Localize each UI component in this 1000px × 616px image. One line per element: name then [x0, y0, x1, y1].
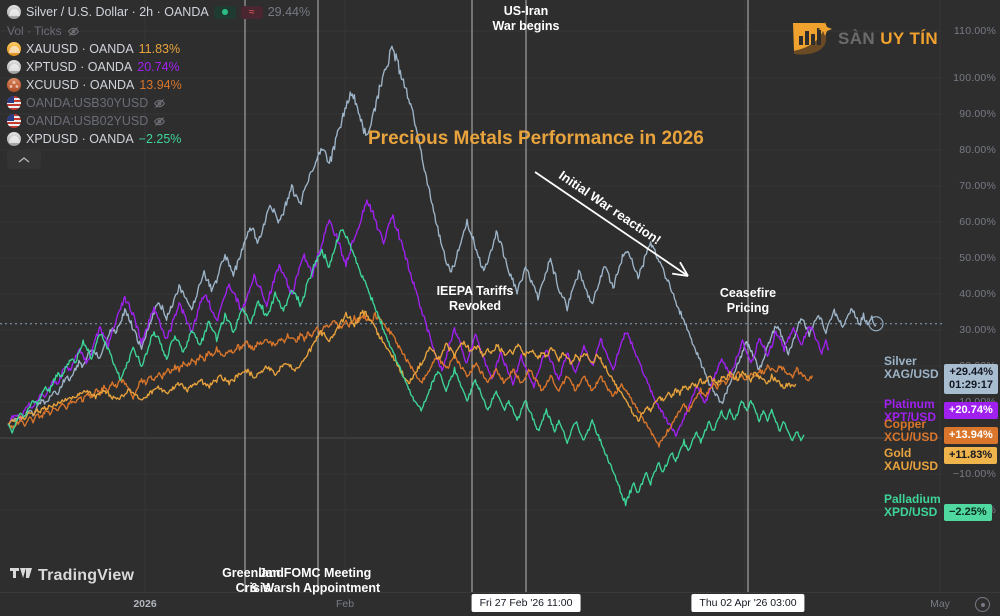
event-label-line: IEEPA Tariffs [437, 284, 514, 299]
price-badge-value: +11.83% [949, 449, 992, 462]
legend-item-label: XAUUSD · OANDA [26, 42, 134, 56]
event-label-line: War begins [493, 19, 560, 34]
clock-icon[interactable] [975, 597, 990, 612]
silver-coin-icon [7, 5, 21, 19]
tradingview-watermark: TradingView [10, 566, 134, 585]
series-label-symbol: XAU/USD [884, 460, 938, 473]
price-tick-label: 50.00% [959, 252, 996, 264]
brand-logo-text: SÀN UY TÍN [838, 29, 938, 49]
us-flag-icon [7, 114, 21, 128]
legend-item-xcuusd[interactable]: XCUUSD · OANDA13.94% [4, 76, 313, 94]
legend-item-value: 20.74% [137, 60, 179, 74]
us-flag-icon [7, 96, 21, 110]
legend-item-label: XPDUSD · OANDA [26, 132, 134, 146]
legend-item-list: XAUUSD · OANDA11.83%XPTUSD · OANDA20.74%… [4, 40, 313, 148]
eye-off-icon[interactable] [153, 97, 166, 110]
eye-off-icon[interactable] [67, 25, 80, 38]
tradingview-logo-icon [10, 566, 32, 585]
platinum-coin-icon [7, 60, 21, 74]
price-badge-silver: +29.44%01:29:17 [944, 364, 998, 394]
legend-item-label: XCUUSD · OANDA [26, 78, 134, 92]
tradingview-watermark-text: TradingView [38, 567, 134, 585]
price-badge-value: −2.25% [949, 506, 987, 519]
time-tick-label: Feb [336, 598, 354, 610]
legend-collapse-button[interactable] [7, 150, 41, 169]
war-reaction-arrow-line [535, 172, 688, 276]
brand-logo-text-part2: UY TÍN [880, 29, 938, 48]
legend-item-value: −2.25% [139, 132, 182, 146]
legend-item-xpdusd[interactable]: XPDUSD · OANDA−2.25% [4, 130, 313, 148]
price-tick-label: 40.00% [959, 288, 996, 300]
series-label-palladium: PalladiumXPD/USD [884, 493, 941, 519]
event-label-line: Pricing [720, 301, 776, 316]
price-tick-label: 80.00% [959, 144, 996, 156]
price-tick-label: −10.00% [953, 468, 996, 480]
series-label-silver: SilverXAG/USD [884, 355, 939, 381]
palladium-coin-icon [7, 132, 21, 146]
legend-main-row[interactable]: Silver / U.S. Dollar · 2h · OANDA ≈ 29.4… [4, 2, 313, 22]
price-badge-value: +13.94% [949, 429, 993, 442]
event-label-ieepa-tariffs-revoked[interactable]: IEEPA TariffsRevoked [437, 284, 514, 314]
market-status-dot-icon [214, 6, 236, 19]
legend-item-label: OANDA:USB30YUSD [26, 96, 148, 110]
series-label-symbol: XAG/USD [884, 368, 939, 381]
brand-logo: SÀN UY TÍN [790, 20, 938, 58]
legend-item-xptusd[interactable]: XPTUSD · OANDA20.74% [4, 58, 313, 76]
time-cursor-badge: Fri 27 Feb '26 11:00 [472, 594, 581, 612]
bar-chart-logo-icon [790, 20, 832, 58]
price-badge-countdown: 01:29:17 [949, 379, 993, 392]
copper-coin-icon [7, 78, 21, 92]
chart-symbol-title: Silver / U.S. Dollar · 2h · OANDA [26, 5, 209, 19]
event-label-ceasefire-pricing[interactable]: CeasefirePricing [720, 286, 776, 316]
legend-item-value: 13.94% [139, 78, 181, 92]
legend-item-oanda:usb30yusd[interactable]: OANDA:USB30YUSD [4, 94, 313, 112]
event-label-line: Ceasefire [720, 286, 776, 301]
event-label-line: US-Iran [493, 4, 560, 19]
price-badge-gold: +11.83% [944, 447, 997, 464]
event-label-line: Revoked [437, 299, 514, 314]
legend-volume-row[interactable]: Vol · Ticks [4, 22, 313, 40]
price-tick-label: 60.00% [959, 216, 996, 228]
tradingview-chart: 110.00%100.00%90.00%80.00%70.00%60.00%50… [0, 0, 1000, 616]
price-badge-palladium: −2.25% [944, 504, 992, 521]
legend-item-label: OANDA:USB02YUSD [26, 114, 148, 128]
event-label-line: & Warsh Appointment [250, 581, 380, 596]
price-badge-copper: +13.94% [944, 427, 998, 444]
price-badge-platinum: +20.74% [944, 402, 998, 419]
volume-label: Vol · Ticks [7, 24, 62, 38]
legend-item-value: 11.83% [139, 42, 180, 56]
gold-coin-icon [7, 42, 21, 56]
eye-off-icon[interactable] [153, 115, 166, 128]
price-tick-label: 70.00% [959, 180, 996, 192]
brand-logo-text-part1: SÀN [838, 29, 880, 48]
series-label-copper: CopperXCU/USD [884, 418, 938, 444]
price-tick-label: 100.00% [953, 72, 996, 84]
legend-item-label: XPTUSD · OANDA [26, 60, 132, 74]
time-tick-label: 2026 [133, 598, 156, 610]
price-tick-label: 30.00% [959, 324, 996, 336]
price-tick-label: 90.00% [959, 108, 996, 120]
price-badge-value: +20.74% [949, 404, 993, 417]
chart-mode-badge[interactable]: ≈ [241, 6, 263, 19]
price-badge-value: +29.44% [949, 366, 993, 379]
series-label-symbol: XCU/USD [884, 431, 938, 444]
chart-title-annotation[interactable]: Precious Metals Performance in 2026 [368, 128, 704, 150]
chart-legend: Silver / U.S. Dollar · 2h · OANDA ≈ 29.4… [4, 2, 313, 169]
event-label-jan-fomc-meeting[interactable]: Jan FOMC Meeting& Warsh Appointment [250, 566, 380, 596]
legend-item-xauusd[interactable]: XAUUSD · OANDA11.83% [4, 40, 313, 58]
legend-item-oanda:usb02yusd[interactable]: OANDA:USB02YUSD [4, 112, 313, 130]
event-label-line: Jan FOMC Meeting [250, 566, 380, 581]
time-scale[interactable]: 2026FebMayFri 27 Feb '26 11:00Thu 02 Apr… [0, 592, 1000, 616]
event-label-us-iran-war-begins[interactable]: US-IranWar begins [493, 4, 560, 34]
main-change-value: 29.44% [268, 5, 310, 19]
series-label-gold: GoldXAU/USD [884, 447, 938, 473]
time-tick-label: May [930, 598, 950, 610]
time-cursor-badge: Thu 02 Apr '26 03:00 [691, 594, 804, 612]
price-tick-label: 110.00% [954, 25, 996, 37]
series-label-symbol: XPD/USD [884, 506, 941, 519]
